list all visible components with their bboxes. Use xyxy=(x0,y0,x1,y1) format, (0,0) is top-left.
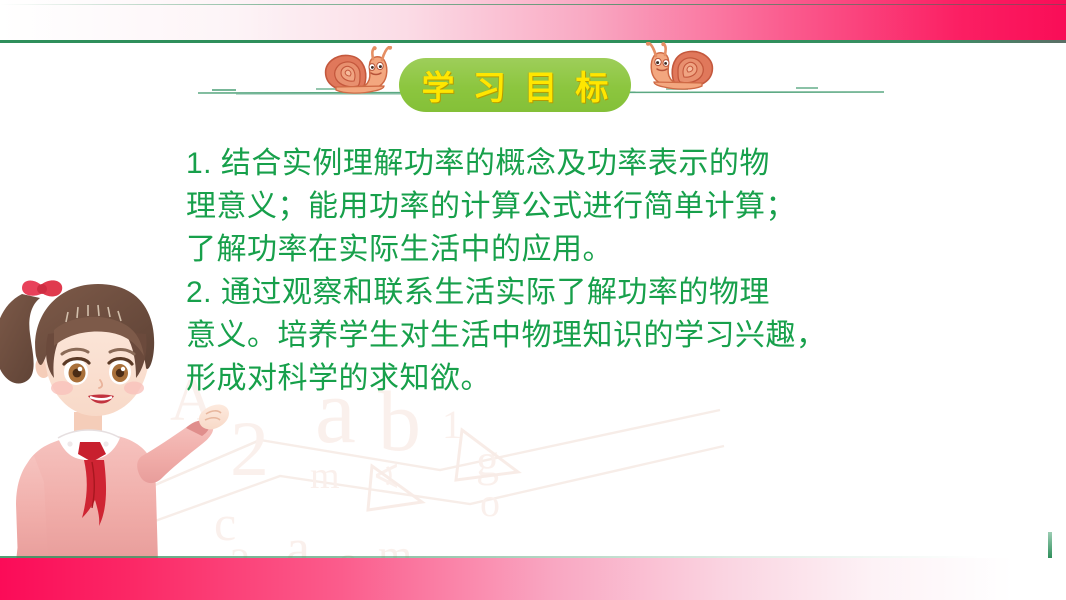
top-gradient-bar xyxy=(0,0,1066,40)
objective-line-3: 了解功率在实际生活中的应用。 xyxy=(186,228,976,271)
objective-line-1: 1. 结合实例理解功率的概念及功率表示的物 xyxy=(186,142,976,185)
snail-icon-right xyxy=(636,42,724,94)
svg-text:2: 2 xyxy=(230,405,269,492)
objective-line-5: 意义。培养学生对生活中物理知识的学习兴趣， xyxy=(186,314,976,357)
snail-icon-left xyxy=(314,46,402,98)
bottom-green-accent xyxy=(1048,532,1052,558)
learning-objectives-title-pill: 学 习 目 标 xyxy=(399,58,631,112)
objective-line-6: 形成对科学的求知欲。 xyxy=(186,357,976,400)
svg-text:g: g xyxy=(476,435,499,486)
title-label: 学 习 目 标 xyxy=(417,61,614,109)
schoolgirl-illustration xyxy=(0,272,231,562)
presentation-slide: A 2 a b 1 o m ∢ g c 2 a e m o xyxy=(0,0,1066,600)
objective-line-2: 理意义；能用功率的计算公式进行简单计算； xyxy=(186,185,976,228)
objectives-text-block: 1. 结合实例理解功率的概念及功率表示的物 理意义；能用功率的计算公式进行简单计… xyxy=(186,142,976,400)
svg-text:m: m xyxy=(310,455,340,497)
top-green-rule xyxy=(0,40,1066,43)
top-hairline-rule xyxy=(0,4,1066,5)
svg-text:o: o xyxy=(480,480,500,525)
svg-text:1: 1 xyxy=(442,402,462,447)
svg-text:∢: ∢ xyxy=(372,459,401,496)
objective-line-4: 2. 通过观察和联系生活实际了解功率的物理 xyxy=(186,271,976,314)
bottom-gradient-bar xyxy=(0,558,1066,600)
